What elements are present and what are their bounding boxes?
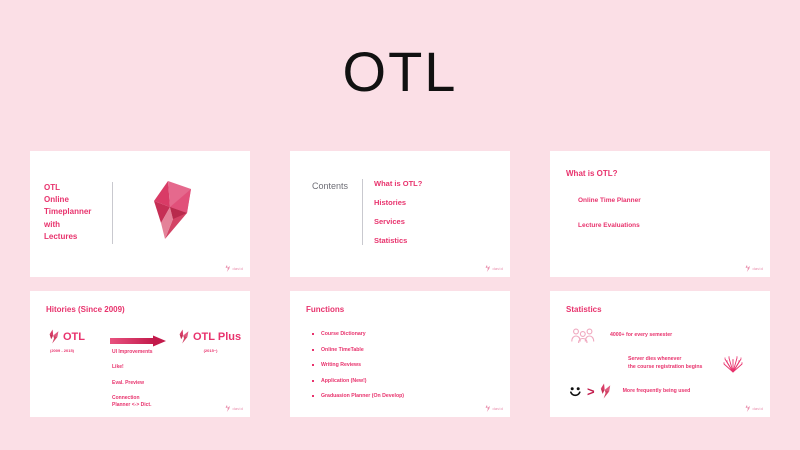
contents-item[interactable]: What is OTL? <box>374 179 422 188</box>
history-change-item: Eval. Preview <box>112 380 153 387</box>
cover-line-5: Lectures <box>44 231 108 243</box>
history-left: OTL (2009 - 2015) <box>48 329 85 353</box>
slide-cover[interactable]: OTL Online Timeplanner with Lectures <box>30 151 250 277</box>
contents-item[interactable]: Statistics <box>374 236 422 245</box>
watermark-bolt-icon <box>745 265 750 272</box>
watermark-label: david <box>492 406 503 411</box>
watermark-bolt-icon <box>225 405 230 412</box>
cover-line-1: OTL <box>44 182 108 194</box>
function-label: Online TimeTable <box>321 347 364 353</box>
cover-title-block: OTL Online Timeplanner with Lectures <box>44 182 108 244</box>
history-left-name: OTL <box>63 331 85 343</box>
slide-heading: Hitories (Since 2009) <box>46 305 125 314</box>
watermark-bolt-icon <box>225 265 230 272</box>
history-right: OTL Plus (2015~) <box>178 329 241 353</box>
bullet-icon <box>312 364 314 366</box>
watermark: david <box>485 405 503 412</box>
watermark-label: david <box>492 266 503 271</box>
stat-row-server: Server dies whenever the course registra… <box>628 353 744 373</box>
watermark-label: david <box>752 266 763 271</box>
list-item: Online Time Planner <box>578 197 641 204</box>
divider <box>362 179 363 245</box>
explosion-icon <box>722 353 744 373</box>
stat-row-users: 4000+ for every semester <box>570 327 672 343</box>
divider <box>112 182 113 244</box>
contents-item[interactable]: Histories <box>374 198 422 207</box>
watermark-bolt-icon <box>485 405 490 412</box>
function-label: Writing Reviews <box>321 362 361 368</box>
what-is-otl-list: Online Time Planner Lecture Evaluations <box>578 197 641 229</box>
otl-bolt-logo-icon <box>147 179 193 246</box>
otl-bolt-logo-icon <box>178 329 189 344</box>
history-change-item: Connection Planner <-> Dict. <box>112 395 153 410</box>
contents-list: What is OTL? Histories Services Statisti… <box>374 179 422 245</box>
stat-comparison-label: More frequently being used <box>623 388 691 394</box>
watermark: david <box>745 405 763 412</box>
slide-statistics[interactable]: Statistics 4000+ for every semester Serv… <box>550 291 770 417</box>
cover-line-4: with <box>44 219 108 231</box>
function-label: Course Dictionary <box>321 331 366 337</box>
watermark: david <box>225 265 243 272</box>
bullet-icon <box>312 395 314 397</box>
slide-heading: Statistics <box>566 305 602 314</box>
greater-than-icon: > <box>587 385 595 398</box>
slide-grid: OTL Online Timeplanner with Lectures <box>30 151 770 417</box>
bullet-icon <box>312 380 314 382</box>
bullet-icon <box>312 333 314 335</box>
contents-content: Contents What is OTL? Histories Services… <box>312 179 422 245</box>
watermark-label: david <box>232 406 243 411</box>
function-label: Graduasion Planner (On Develop) <box>321 393 404 399</box>
list-item: Application (New!) <box>312 378 404 384</box>
cover-line-2: Online <box>44 194 108 206</box>
otl-bolt-logo-icon <box>48 329 59 344</box>
otl-bolt-logo-icon <box>599 383 611 399</box>
watermark: david <box>225 405 243 412</box>
history-left-years: (2009 - 2015) <box>50 348 85 353</box>
list-item: Lecture Evaluations <box>578 222 641 229</box>
bullet-icon <box>312 349 314 351</box>
watermark-label: david <box>232 266 243 271</box>
contents-label: Contents <box>312 179 362 191</box>
history-right-years: (2015~) <box>180 348 241 353</box>
functions-list: Course Dictionary Online TimeTable Writi… <box>312 331 404 399</box>
smiley-icon <box>568 384 583 399</box>
watermark-label: david <box>752 406 763 411</box>
list-item: Online TimeTable <box>312 347 404 353</box>
page-title: OTL <box>0 44 800 100</box>
list-item: Course Dictionary <box>312 331 404 337</box>
cover-line-3: Timeplanner <box>44 206 108 218</box>
stat-row-comparison: > More frequently being used <box>568 383 690 399</box>
watermark: david <box>745 265 763 272</box>
list-item: Writing Reviews <box>312 362 404 368</box>
slide-heading: What is OTL? <box>566 169 618 178</box>
slide-functions[interactable]: Functions Course Dictionary Online TimeT… <box>290 291 510 417</box>
slide-what-is-otl[interactable]: What is OTL? Online Time Planner Lecture… <box>550 151 770 277</box>
cover-content: OTL Online Timeplanner with Lectures <box>44 179 193 246</box>
history-changes-list: UI Improvements Like! Eval. Preview Conn… <box>112 349 153 409</box>
watermark: david <box>485 265 503 272</box>
function-label: Application (New!) <box>321 378 367 384</box>
contents-item[interactable]: Services <box>374 217 422 226</box>
watermark-bolt-icon <box>485 265 490 272</box>
history-right-name: OTL Plus <box>193 331 241 343</box>
slide-histories[interactable]: Hitories (Since 2009) OTL (2009 - 2015) <box>30 291 250 417</box>
history-change-item: UI Improvements <box>112 349 153 356</box>
slide-contents[interactable]: Contents What is OTL? Histories Services… <box>290 151 510 277</box>
stat-users-label: 4000+ for every semester <box>610 332 672 338</box>
people-group-icon <box>570 327 596 343</box>
stat-server-label: Server dies whenever the course registra… <box>628 355 702 372</box>
watermark-bolt-icon <box>745 405 750 412</box>
slide-heading: Functions <box>306 305 344 314</box>
list-item: Graduasion Planner (On Develop) <box>312 393 404 399</box>
presentation-canvas: OTL OTL Online Timeplanner with Lectures <box>0 0 800 450</box>
history-change-item: Like! <box>112 364 153 371</box>
